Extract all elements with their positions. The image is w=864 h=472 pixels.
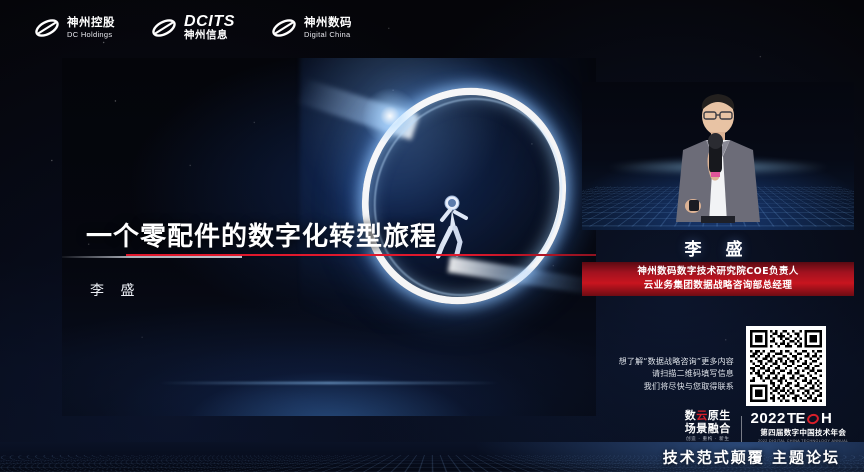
glowing-ring-astronaut-graphic	[340, 82, 590, 312]
slide-horizon-glow	[62, 296, 596, 416]
swoosh-logo-icon	[271, 16, 297, 40]
slide-title-divider	[62, 254, 596, 258]
logo-text-group: 神州控股 DC Holdings	[67, 16, 115, 39]
event-slogan-line-2: 场景融合	[684, 423, 732, 436]
qr-line-2: 请扫描二维码填写信息	[616, 368, 734, 380]
slogan-char-3: 原生	[708, 409, 731, 422]
logo-text-group: 神州数码 Digital China	[304, 16, 352, 39]
qr-contact-section: 想了解“数据战略咨询”更多内容 请扫描二维码填写信息 我们将尽快与您取得联系	[616, 326, 826, 410]
speaker-title-banner: 神州数码数字技术研究院COE负责人 云业务集团数据战略咨询部总经理	[582, 262, 854, 296]
slogan-char-1: 数	[685, 409, 697, 422]
event-logo: 数云原生 场景融合 创造 · 重构 · 新生态 2022TEH 第四届数字中国技…	[684, 412, 856, 446]
presentation-slide: 一个零配件的数字化转型旅程 李 盛	[62, 58, 596, 416]
logo-en-text: DC Holdings	[67, 30, 115, 39]
logo-cn-text: 神州信息	[184, 30, 235, 42]
event-tech-a: TE	[787, 411, 805, 426]
event-tech-b: H	[821, 411, 831, 426]
speaker-name-block: 李 盛	[582, 232, 854, 262]
event-slogan-line-1: 数云原生	[684, 410, 732, 423]
contact-qr-code[interactable]	[746, 326, 826, 406]
logo-text-group: DCITS 神州信息	[184, 14, 235, 42]
event-year: 2022	[750, 411, 785, 426]
logo-cn-text: 神州数码	[304, 16, 352, 29]
speaker-name: 李 盛	[685, 235, 752, 260]
logo-en-text: Digital China	[304, 30, 352, 39]
swoosh-logo-icon	[151, 16, 177, 40]
presentation-stage: 神州控股 DC Holdings DCITS 神州信息	[0, 0, 864, 472]
slide-speaker-name: 李 盛	[90, 280, 140, 300]
slogan-char-2: 云	[696, 409, 708, 422]
event-logo-divider	[741, 416, 742, 442]
qr-line-3: 我们将尽快与您取得联系	[616, 381, 734, 393]
speaker-title-line-1: 神州数码数字技术研究院COE负责人	[637, 266, 798, 278]
event-year-tech: 2022TEH	[750, 411, 856, 426]
live-speaker-video[interactable]	[582, 82, 854, 230]
logo-dcits: DCITS 神州信息	[151, 14, 235, 42]
slide-title: 一个零配件的数字化转型旅程	[86, 216, 586, 253]
logo-digital-china: 神州数码 Digital China	[271, 16, 352, 40]
swoosh-logo-icon	[34, 16, 60, 40]
qr-line-1: 想了解“数据战略咨询”更多内容	[616, 356, 734, 368]
logo-cn-text: 神州控股	[67, 16, 115, 29]
divider-grey-line	[62, 256, 242, 258]
speaker-title-line-2: 云业务集团数据战略咨询部总经理	[644, 280, 793, 292]
brand-logo-bar: 神州控股 DC Holdings DCITS 神州信息	[34, 14, 352, 42]
qr-instruction-text: 想了解“数据战略咨询”更多内容 请扫描二维码填写信息 我们将尽快与您取得联系	[616, 356, 734, 393]
event-name-cn: 第四届数字中国技术年会	[750, 427, 856, 438]
bottom-bar: 技术范式颠覆 主题论坛	[0, 442, 864, 472]
logo-wordmark-text: DCITS	[184, 14, 235, 30]
logo-dc-holdings: 神州控股 DC Holdings	[34, 16, 115, 40]
ring-spark	[358, 84, 422, 148]
tech-ring-icon	[806, 412, 821, 426]
bottom-bar-title: 技术范式颠覆 主题论坛	[663, 447, 840, 468]
speaker-figure	[643, 90, 793, 230]
